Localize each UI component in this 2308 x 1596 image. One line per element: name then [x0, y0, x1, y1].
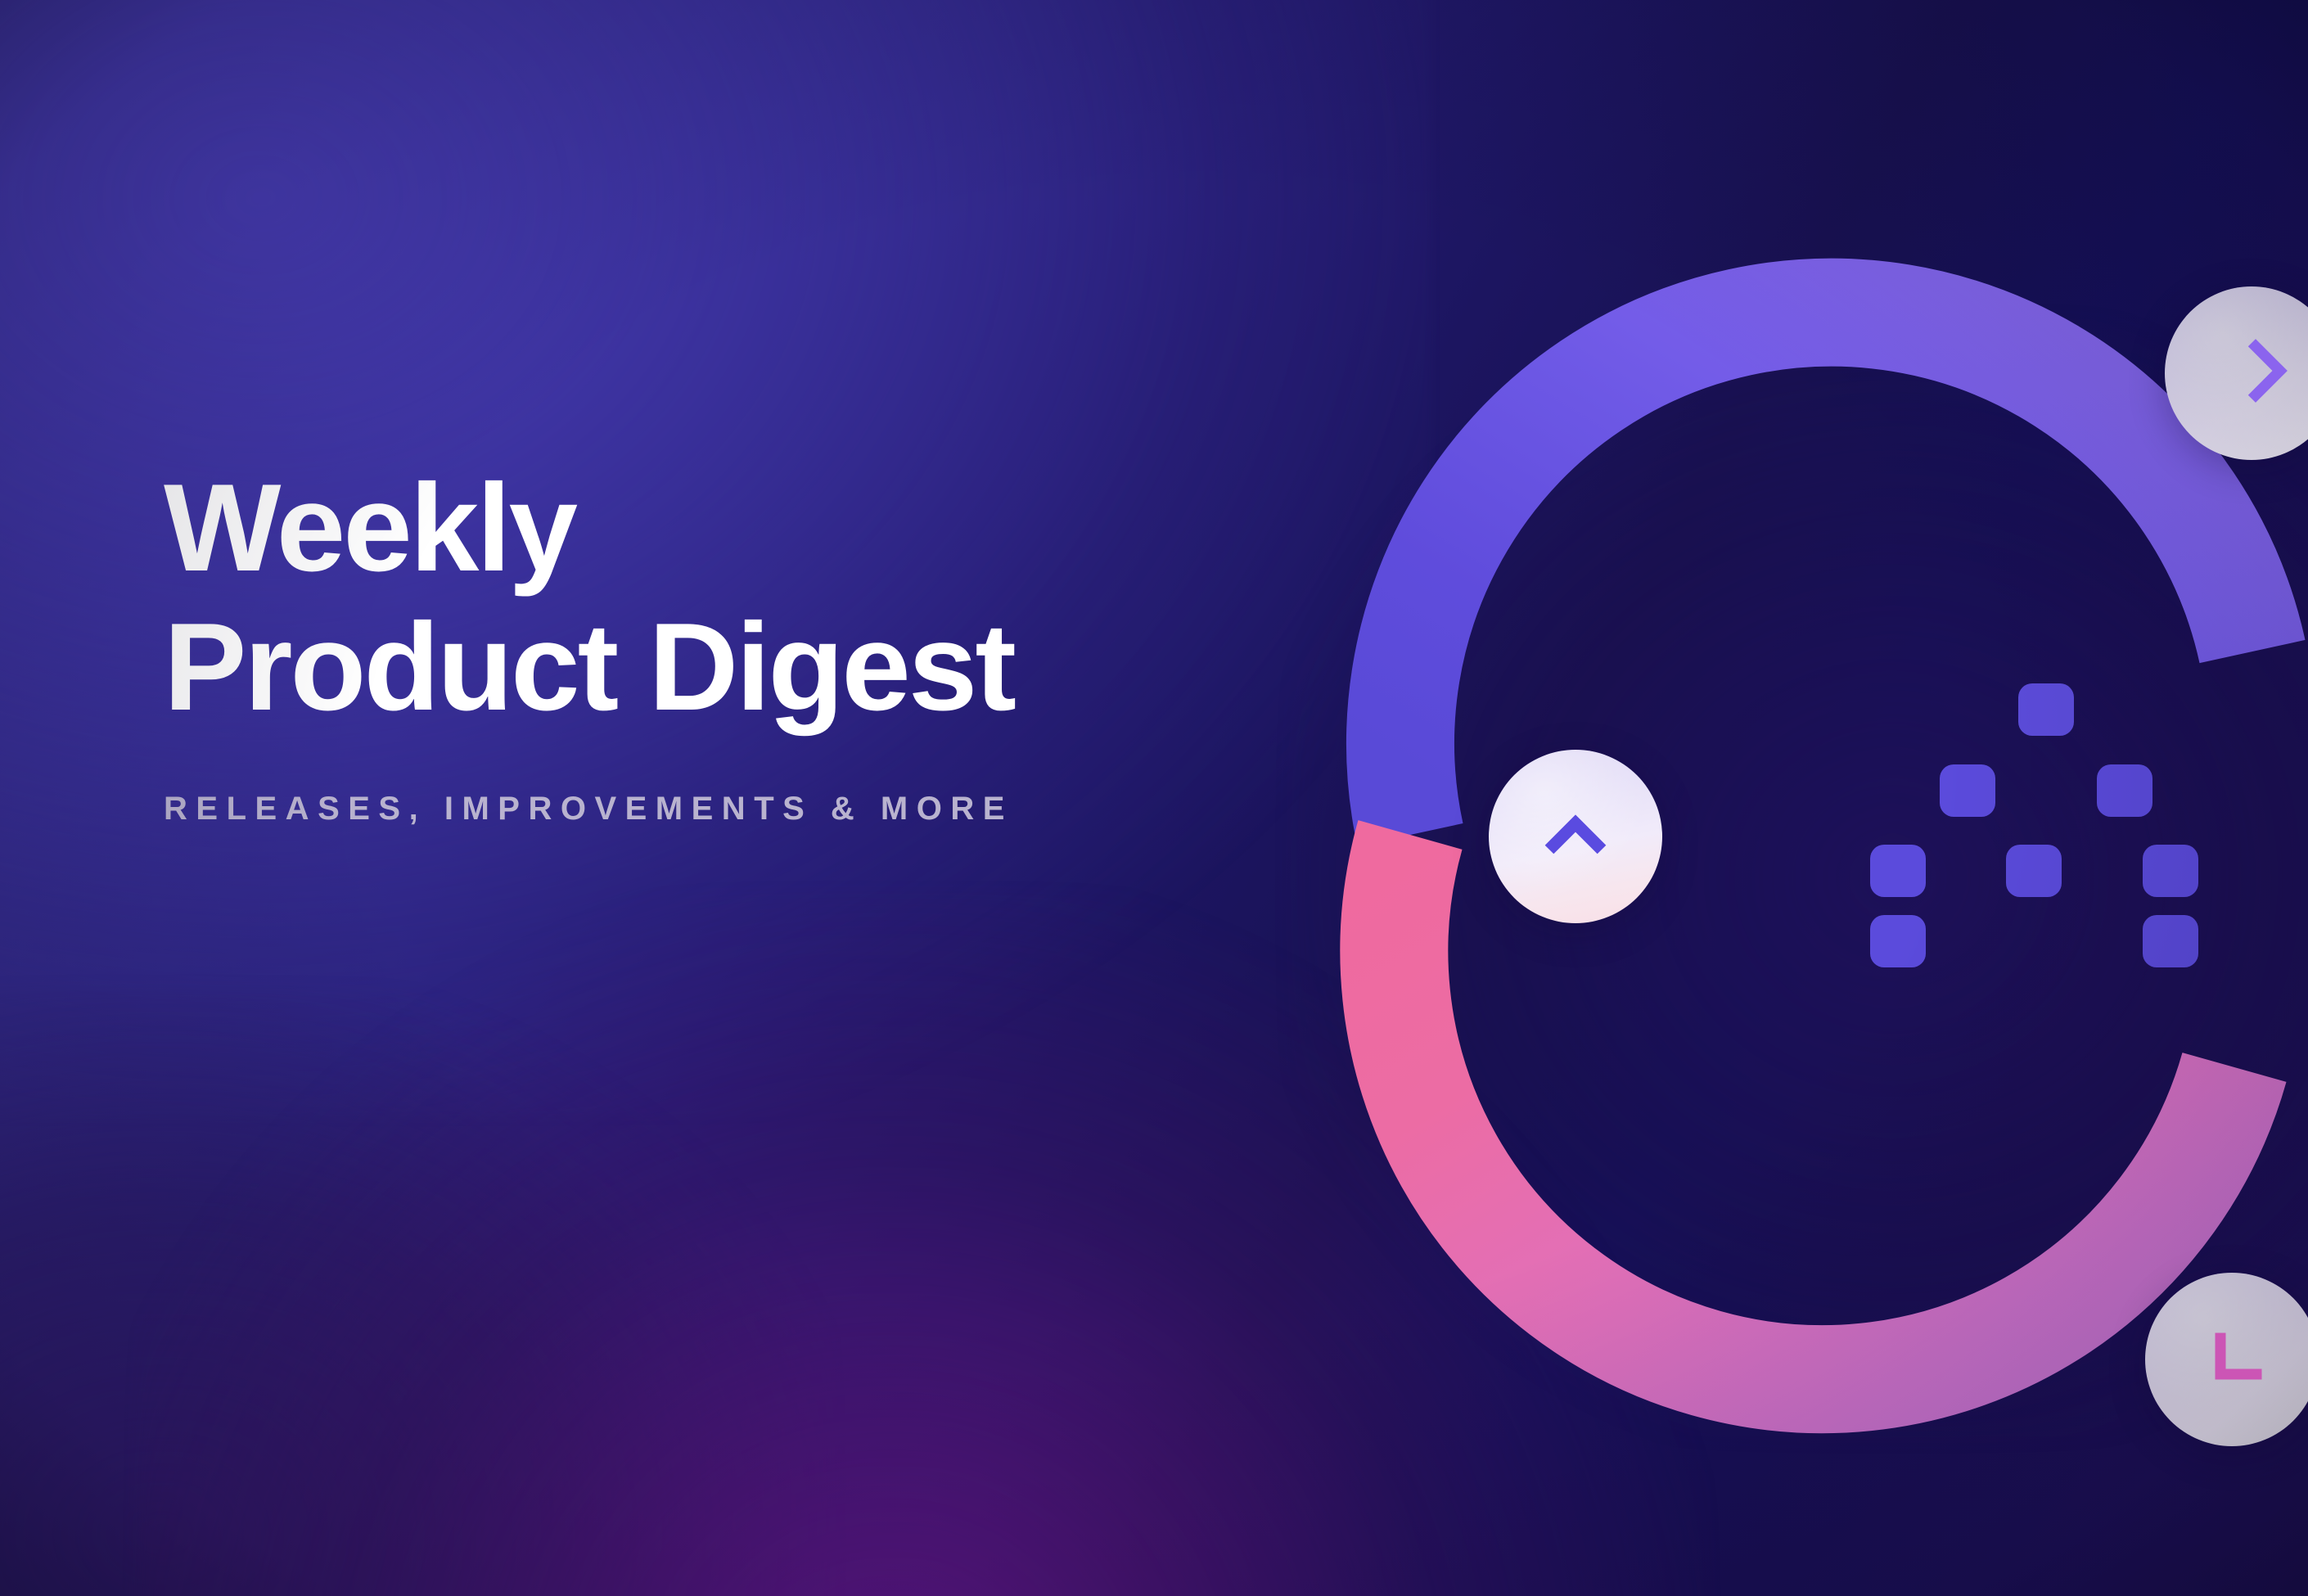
pyramid-tile	[1870, 845, 1926, 897]
pyramid-tile	[2143, 845, 2198, 897]
clock-hands-icon	[2212, 334, 2291, 413]
pyramid-tile	[2006, 845, 2062, 897]
tile-pyramid-graphic	[1882, 683, 2210, 978]
clock-badge-bottom-right[interactable]	[2145, 1273, 2308, 1446]
pyramid-tile	[2097, 764, 2152, 817]
pyramid-tile	[1940, 764, 1995, 817]
chevron-up-icon	[1531, 792, 1620, 881]
page-subtitle: RELEASES, IMPROVEMENTS & MORE	[164, 791, 1391, 827]
clock-hands-icon	[2193, 1320, 2271, 1399]
copy-block: Weekly Product Digest RELEASES, IMPROVEM…	[164, 458, 1391, 827]
pyramid-tile	[1870, 915, 1926, 967]
pyramid-tile	[2143, 915, 2198, 967]
pyramid-tile	[2018, 683, 2074, 736]
chevron-badge-left[interactable]	[1489, 750, 1662, 923]
ring-artwork	[1416, 196, 2308, 1506]
poster-canvas: Weekly Product Digest RELEASES, IMPROVEM…	[0, 0, 2308, 1596]
page-title: Weekly Product Digest	[164, 458, 1391, 737]
